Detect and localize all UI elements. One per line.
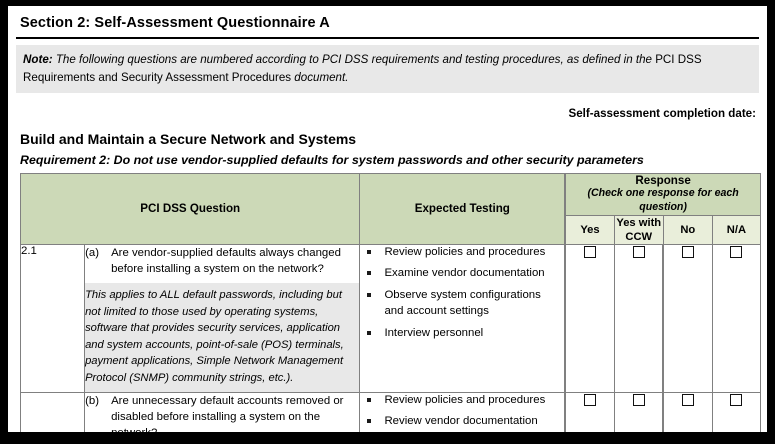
response-na-cell[interactable] — [712, 392, 760, 432]
row-testing-cell: Review policies and procedures Review ve… — [360, 392, 565, 432]
header-response-subtitle: (Check one response for each question) — [566, 187, 760, 215]
list-item: Interview personnel — [360, 326, 564, 348]
document-page: Section 2: Self-Assessment Questionnaire… — [8, 6, 767, 432]
question-text: Are unnecessary default accounts removed… — [111, 393, 359, 432]
row-testing-cell: Review policies and procedures Examine v… — [360, 244, 565, 392]
testing-list: Review policies and procedures Examine v… — [360, 245, 564, 348]
checkbox-yes-with-ccw[interactable] — [633, 246, 645, 258]
note-text-part1: The following questions are numbered acc… — [53, 53, 656, 66]
response-yes-cell[interactable] — [565, 392, 614, 432]
response-yes-ccw-cell[interactable] — [614, 392, 663, 432]
list-item: Review policies and procedures — [360, 393, 564, 415]
question-letter: (a) — [85, 245, 111, 277]
list-item: Examine vendor documentation — [360, 266, 564, 288]
note-text-part2: document. — [291, 71, 348, 84]
list-item: Observe system configurations and accoun… — [360, 288, 564, 325]
question-letter: (b) — [85, 393, 111, 432]
header-response: Response (Check one response for each qu… — [565, 174, 760, 216]
list-item: Review policies and procedures — [360, 245, 564, 267]
completion-date-label: Self-assessment completion date: — [16, 93, 759, 120]
note-box: Note: The following questions are number… — [16, 45, 759, 93]
response-yes-ccw-cell[interactable] — [614, 244, 663, 392]
row-number — [21, 392, 85, 432]
row-number: 2.1 — [21, 244, 85, 392]
checkbox-yes-with-ccw[interactable] — [633, 394, 645, 406]
section-title: Section 2: Self-Assessment Questionnaire… — [16, 6, 759, 37]
response-na-cell[interactable] — [712, 244, 760, 392]
response-no-cell[interactable] — [663, 244, 712, 392]
header-no: No — [663, 215, 712, 244]
header-pci-dss-question: PCI DSS Question — [21, 174, 360, 245]
title-divider — [16, 37, 759, 39]
header-yes: Yes — [565, 215, 614, 244]
build-heading: Build and Maintain a Secure Network and … — [16, 120, 759, 147]
row-question-cell: (a) Are vendor-supplied defaults always … — [85, 244, 360, 392]
saq-table: PCI DSS Question Expected Testing Respon… — [20, 173, 761, 432]
note-label: Note: — [23, 53, 53, 66]
header-expected-testing: Expected Testing — [360, 174, 565, 245]
requirement-heading: Requirement 2: Do not use vendor-supplie… — [16, 147, 759, 173]
page-frame: Section 2: Self-Assessment Questionnaire… — [0, 0, 775, 444]
checkbox-na[interactable] — [730, 394, 742, 406]
question-text: Are vendor-supplied defaults always chan… — [111, 245, 359, 277]
header-response-title: Response — [635, 174, 690, 187]
checkbox-yes[interactable] — [584, 394, 596, 406]
table-header-row: PCI DSS Question Expected Testing Respon… — [21, 174, 761, 216]
response-no-cell[interactable] — [663, 392, 712, 432]
checkbox-yes[interactable] — [584, 246, 596, 258]
checkbox-no[interactable] — [682, 394, 694, 406]
question-note: This applies to ALL default passwords, i… — [85, 283, 359, 391]
list-item: Review vendor documentation — [360, 414, 564, 432]
table-row: (b) Are unnecessary default accounts rem… — [21, 392, 761, 432]
testing-list: Review policies and procedures Review ve… — [360, 393, 564, 432]
row-question-cell: (b) Are unnecessary default accounts rem… — [85, 392, 360, 432]
response-yes-cell[interactable] — [565, 244, 614, 392]
checkbox-no[interactable] — [682, 246, 694, 258]
header-na: N/A — [712, 215, 760, 244]
table-row: 2.1 (a) Are vendor-supplied defaults alw… — [21, 244, 761, 392]
checkbox-na[interactable] — [730, 246, 742, 258]
header-yes-with-ccw: Yes with CCW — [614, 215, 663, 244]
